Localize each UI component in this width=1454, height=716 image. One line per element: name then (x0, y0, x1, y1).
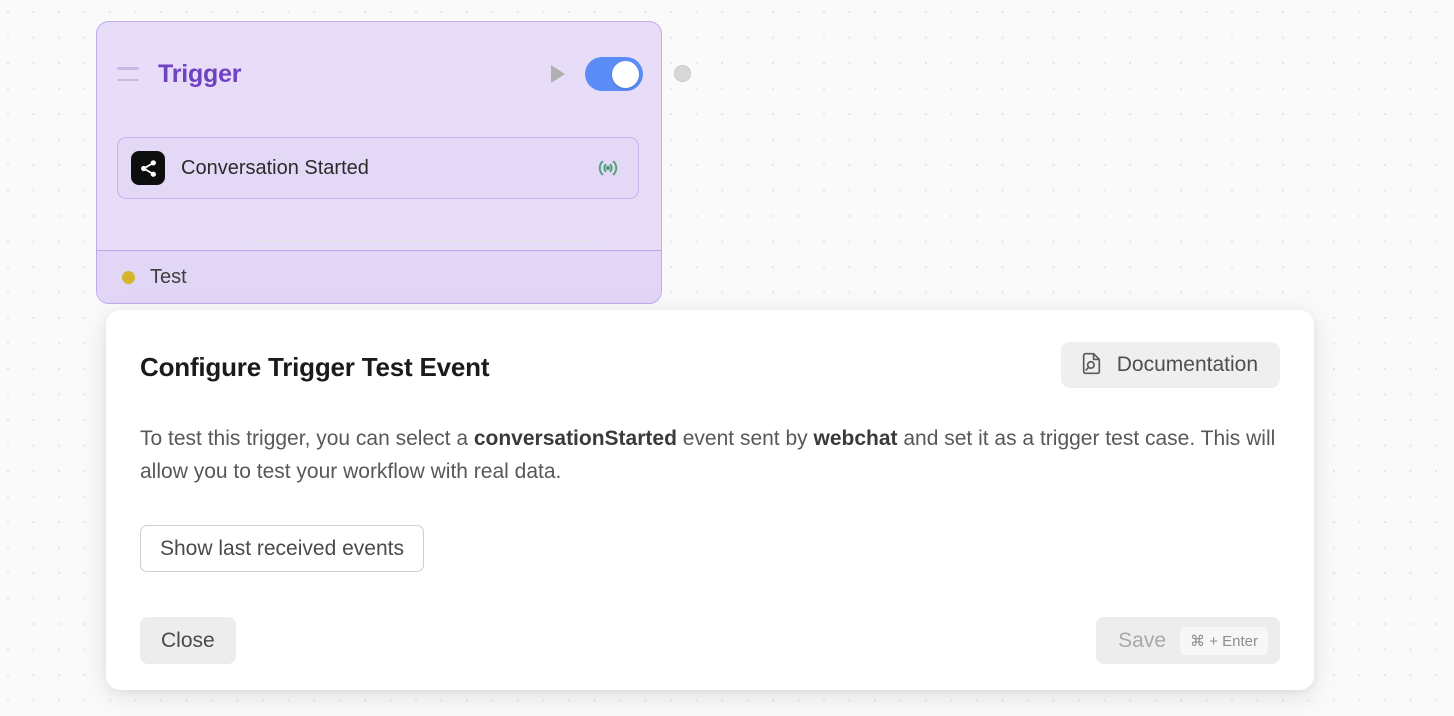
workflow-canvas: Trigger (0, 0, 1454, 716)
trigger-node[interactable]: Trigger (96, 21, 662, 304)
run-trigger-play-icon[interactable] (545, 61, 571, 87)
description-channel-name: webchat (814, 427, 898, 450)
description-part-1: To test this trigger, you can select a (140, 427, 474, 450)
trigger-event-label: Conversation Started (181, 157, 369, 180)
drag-handle-line (117, 79, 139, 82)
description-part-2: event sent by (677, 427, 814, 450)
trigger-node-title: Trigger (158, 60, 241, 89)
configure-trigger-test-event-dialog: Configure Trigger Test Event Documentati… (106, 310, 1314, 690)
save-button-label: Save (1118, 629, 1166, 653)
node-inner-divider (253, 240, 593, 241)
description-event-name: conversationStarted (474, 427, 677, 450)
node-output-port[interactable] (674, 65, 691, 82)
show-last-received-events-button[interactable]: Show last received events (140, 525, 424, 572)
toggle-knob (612, 61, 639, 88)
trigger-enabled-toggle[interactable] (585, 57, 643, 91)
document-search-icon (1079, 351, 1104, 379)
dialog-header: Configure Trigger Test Event Documentati… (140, 342, 1280, 388)
dialog-title: Configure Trigger Test Event (140, 352, 489, 383)
documentation-button-label: Documentation (1117, 353, 1258, 377)
drag-handle-line (117, 67, 139, 70)
dialog-footer: Close Save ⌘ + Enter (140, 617, 1280, 664)
save-button[interactable]: Save ⌘ + Enter (1096, 617, 1280, 664)
broadcast-icon (594, 156, 622, 180)
close-button[interactable]: Close (140, 617, 236, 664)
share-nodes-icon (131, 151, 165, 185)
drag-handle-icon[interactable] (117, 67, 139, 81)
test-status-dot (122, 271, 135, 284)
trigger-event-row[interactable]: Conversation Started (117, 137, 639, 199)
trigger-node-header: Trigger (97, 22, 661, 126)
documentation-button[interactable]: Documentation (1061, 342, 1280, 388)
trigger-footer-label: Test (150, 266, 187, 289)
trigger-node-body: Trigger (97, 22, 661, 251)
trigger-node-footer[interactable]: Test (97, 250, 661, 303)
dialog-description: To test this trigger, you can select a c… (140, 422, 1280, 488)
save-shortcut-chip: ⌘ + Enter (1180, 627, 1268, 655)
